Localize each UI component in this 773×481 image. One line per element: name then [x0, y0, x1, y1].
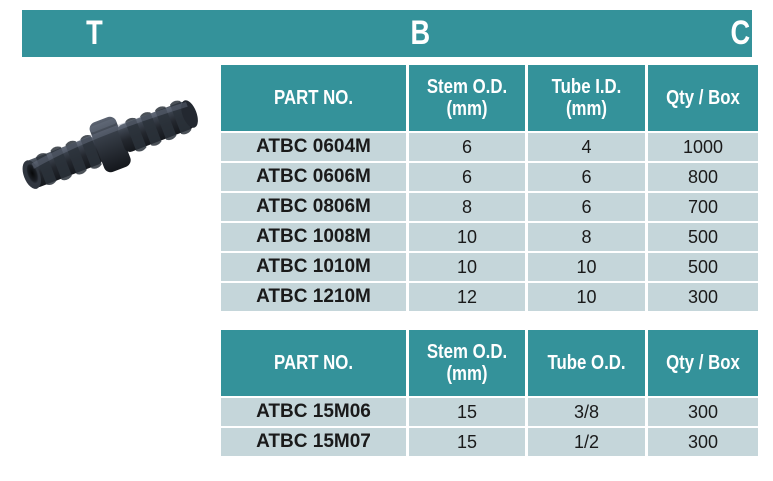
cell-tube-id: 4 [528, 133, 645, 161]
column-header-tube-id-line1: Tube I.D. [539, 76, 634, 98]
cell-stem-od: 15 [409, 428, 525, 456]
cell-qty: 500 [648, 253, 758, 281]
column-header-stem-od-line2: (mm) [420, 98, 514, 120]
tables-region: PART NO. Stem O.D. (mm) Tube I.D. (mm) Q… [218, 63, 758, 458]
table-row: ATBC 0806M 8 6 700 [221, 193, 758, 221]
letter-band: T B C [22, 10, 752, 57]
table-row: ATBC 1210M 12 10 300 [221, 283, 758, 311]
table-header-row: PART NO. Stem O.D. (mm) Tube O.D. Qty / … [221, 330, 758, 396]
cell-part-no: ATBC 0606M [221, 163, 406, 191]
product-photo-barbed-tube-connector [6, 72, 214, 217]
cell-tube-od: 3/8 [528, 398, 645, 426]
cell-part-no: ATBC 15M06 [221, 398, 406, 426]
column-header-stem-od: Stem O.D. (mm) [409, 65, 525, 131]
cell-stem-od: 12 [409, 283, 525, 311]
cell-tube-id: 10 [528, 253, 645, 281]
column-header-tube-id: Tube I.D. (mm) [528, 65, 645, 131]
table-row: ATBC 1010M 10 10 500 [221, 253, 758, 281]
cell-part-no: ATBC 1210M [221, 283, 406, 311]
column-header-stem-od-line1: Stem O.D. [420, 341, 514, 363]
band-letter-t: T [86, 16, 103, 50]
column-header-qty-box: Qty / Box [648, 65, 758, 131]
spec-table-inch: PART NO. Stem O.D. (mm) Tube O.D. Qty / … [218, 328, 761, 458]
barbed-tube-connector-icon [6, 72, 214, 217]
cell-part-no: ATBC 1008M [221, 223, 406, 251]
column-header-tube-od-line1: Tube O.D. [539, 352, 634, 374]
cell-tube-id: 10 [528, 283, 645, 311]
column-header-stem-od: Stem O.D. (mm) [409, 330, 525, 396]
table-row: ATBC 15M07 15 1/2 300 [221, 428, 758, 456]
cell-stem-od: 8 [409, 193, 525, 221]
cell-qty: 800 [648, 163, 758, 191]
cell-stem-od: 6 [409, 133, 525, 161]
cell-stem-od: 6 [409, 163, 525, 191]
column-header-part-no: PART NO. [221, 65, 406, 131]
column-header-qty-box: Qty / Box [648, 330, 758, 396]
column-header-tube-id-line2: (mm) [539, 98, 634, 120]
cell-tube-id: 6 [528, 163, 645, 191]
cell-qty: 300 [648, 398, 758, 426]
cell-qty: 300 [648, 428, 758, 456]
cell-part-no: ATBC 0604M [221, 133, 406, 161]
spec-table-metric: PART NO. Stem O.D. (mm) Tube I.D. (mm) Q… [218, 63, 761, 313]
table-header-row: PART NO. Stem O.D. (mm) Tube I.D. (mm) Q… [221, 65, 758, 131]
cell-qty: 500 [648, 223, 758, 251]
column-header-part-no-line1: PART NO. [237, 87, 389, 109]
band-letter-b: B [410, 16, 430, 50]
cell-part-no: ATBC 15M07 [221, 428, 406, 456]
column-header-part-no: PART NO. [221, 330, 406, 396]
band-letter-c: C [730, 16, 750, 50]
table-row: ATBC 1008M 10 8 500 [221, 223, 758, 251]
column-header-stem-od-line2: (mm) [420, 363, 514, 385]
cell-tube-od: 1/2 [528, 428, 645, 456]
cell-stem-od: 15 [409, 398, 525, 426]
cell-tube-id: 6 [528, 193, 645, 221]
cell-stem-od: 10 [409, 253, 525, 281]
cell-tube-id: 8 [528, 223, 645, 251]
cell-qty: 1000 [648, 133, 758, 161]
cell-stem-od: 10 [409, 223, 525, 251]
cell-qty: 700 [648, 193, 758, 221]
table-row: ATBC 15M06 15 3/8 300 [221, 398, 758, 426]
cell-qty: 300 [648, 283, 758, 311]
table-row: ATBC 0604M 6 4 1000 [221, 133, 758, 161]
column-header-qty-box-line1: Qty / Box [658, 352, 747, 374]
cell-part-no: ATBC 0806M [221, 193, 406, 221]
cell-part-no: ATBC 1010M [221, 253, 406, 281]
column-header-qty-box-line1: Qty / Box [658, 87, 747, 109]
column-header-tube-od: Tube O.D. [528, 330, 645, 396]
column-header-part-no-line1: PART NO. [237, 352, 389, 374]
column-header-stem-od-line1: Stem O.D. [420, 76, 514, 98]
table-row: ATBC 0606M 6 6 800 [221, 163, 758, 191]
